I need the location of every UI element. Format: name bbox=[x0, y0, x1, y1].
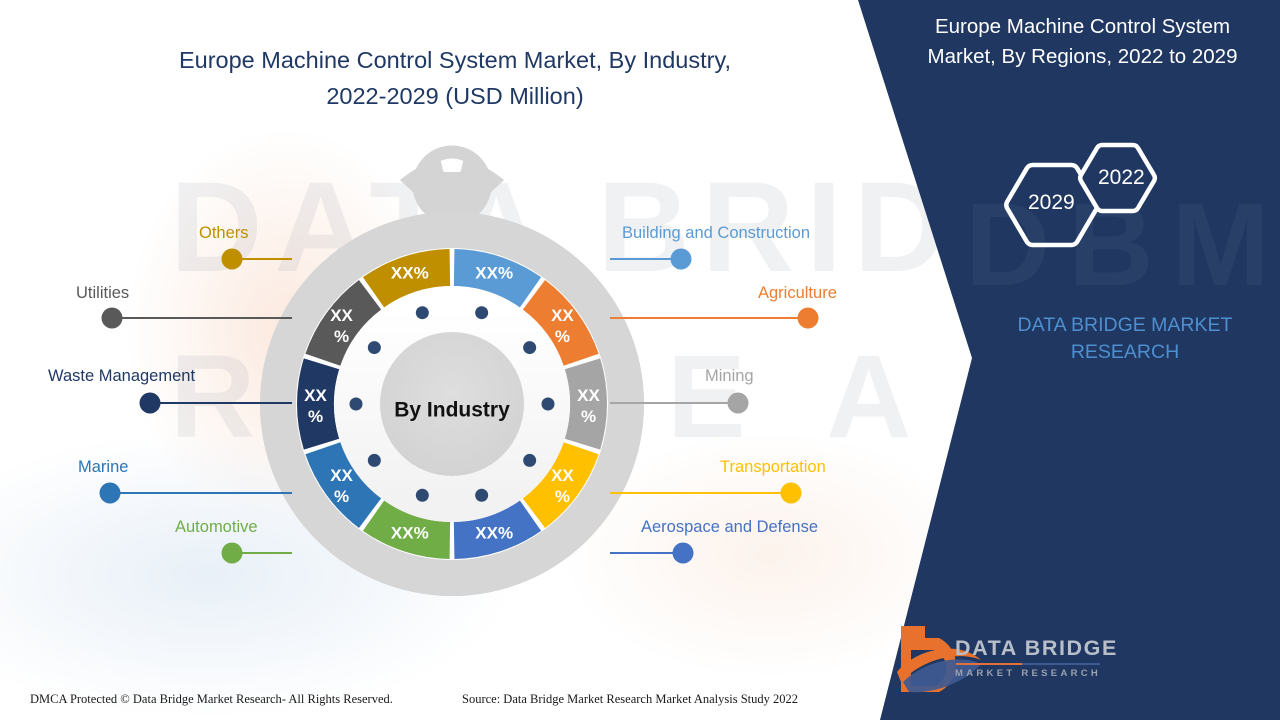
hexagon-2029-label: 2029 bbox=[1028, 191, 1075, 215]
leader-dot-others[interactable] bbox=[222, 249, 243, 270]
logo-name-line-2: MARKET RESEARCH bbox=[955, 668, 1118, 679]
leader-dot-utilities[interactable] bbox=[102, 308, 123, 329]
category-label-automotive[interactable]: Automotive bbox=[175, 518, 258, 537]
center-label: By Industry bbox=[394, 399, 510, 422]
tick-dot bbox=[475, 489, 488, 502]
leader-dot-waste-management[interactable] bbox=[140, 393, 161, 414]
tick-dot bbox=[523, 454, 536, 467]
tick-dot bbox=[416, 306, 429, 319]
infographic-canvas: DATA BRIDG R E S E A R C H Europe Machin… bbox=[0, 0, 1280, 720]
panel-title-line-1: Europe Machine Control System bbox=[895, 12, 1270, 42]
slice-value-label: XX% bbox=[475, 523, 513, 542]
leader-dot-aerospace-and-defense[interactable] bbox=[673, 543, 694, 564]
leader-dot-automotive[interactable] bbox=[222, 543, 243, 564]
footer-source: Source: Data Bridge Market Research Mark… bbox=[462, 692, 798, 707]
logo-name-line-1: DATA BRIDGE bbox=[955, 636, 1118, 661]
hexagon-2022-label: 2022 bbox=[1098, 166, 1145, 190]
category-label-mining[interactable]: Mining bbox=[705, 367, 754, 386]
tick-dot bbox=[368, 454, 381, 467]
panel-brand-text: DATA BRIDGE MARKET RESEARCH bbox=[960, 312, 1280, 366]
panel-title: Europe Machine Control System Market, By… bbox=[895, 12, 1270, 72]
category-label-aerospace-and-defense[interactable]: Aerospace and Defense bbox=[641, 518, 818, 537]
logo-divider bbox=[956, 663, 1100, 665]
category-label-agriculture[interactable]: Agriculture bbox=[758, 284, 837, 303]
leader-dot-building-and-construction[interactable] bbox=[671, 249, 692, 270]
tick-dot bbox=[475, 306, 488, 319]
category-label-building-and-construction[interactable]: Building and Construction bbox=[622, 224, 810, 243]
hexagon-svg bbox=[985, 140, 1185, 270]
tick-dot bbox=[523, 341, 536, 354]
category-label-waste-management[interactable]: Waste Management bbox=[48, 367, 195, 386]
category-label-transportation[interactable]: Transportation bbox=[720, 458, 826, 477]
panel-title-line-2: Market, By Regions, 2022 to 2029 bbox=[895, 42, 1270, 72]
tick-dot bbox=[416, 489, 429, 502]
category-label-utilities[interactable]: Utilities bbox=[76, 284, 129, 303]
leader-dot-agriculture[interactable] bbox=[798, 308, 819, 329]
panel-brand-line-2: RESEARCH bbox=[960, 339, 1280, 366]
tick-dot bbox=[368, 341, 381, 354]
slice-value-label: XX% bbox=[391, 523, 429, 542]
tick-dot bbox=[350, 398, 363, 411]
hexagon-badges: 2029 2022 bbox=[985, 140, 1185, 270]
footer-dmca: DMCA Protected © Data Bridge Market Rese… bbox=[30, 692, 393, 707]
category-label-marine[interactable]: Marine bbox=[78, 458, 128, 477]
company-logo-text: DATA BRIDGE MARKET RESEARCH bbox=[955, 636, 1118, 679]
panel-brand-line-1: DATA BRIDGE MARKET bbox=[960, 312, 1280, 339]
tick-dot bbox=[542, 398, 555, 411]
leader-dot-transportation[interactable] bbox=[781, 483, 802, 504]
donut-chart: XX%XX%XX%XX%XX%XX%XX%XX%XX%XX% By Indust… bbox=[0, 0, 980, 720]
leader-dot-marine[interactable] bbox=[100, 483, 121, 504]
footer: DMCA Protected © Data Bridge Market Rese… bbox=[0, 680, 980, 720]
leader-dot-mining[interactable] bbox=[728, 393, 749, 414]
category-label-others[interactable]: Others bbox=[199, 224, 249, 243]
slice-value-label: XX% bbox=[391, 264, 429, 283]
slice-value-label: XX% bbox=[475, 264, 513, 283]
